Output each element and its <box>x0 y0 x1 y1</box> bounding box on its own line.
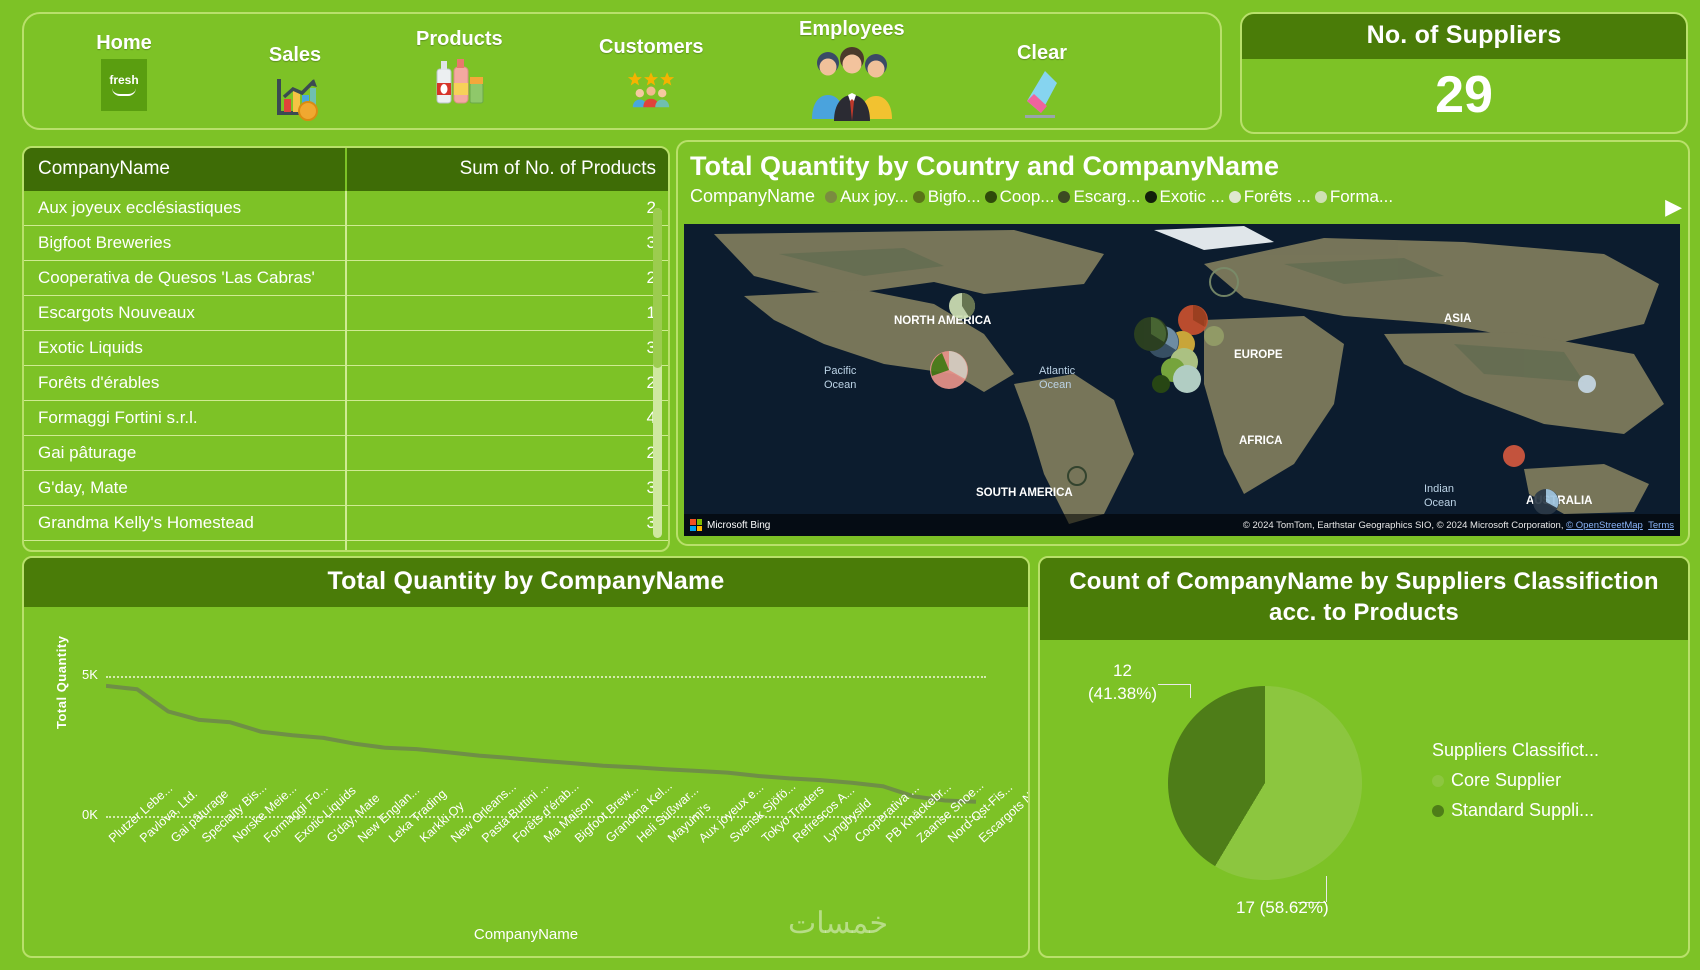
amazon-fresh-logo-icon: fresh <box>96 57 152 113</box>
pie-legend-label: Standard Suppli... <box>1451 800 1594 821</box>
map-legend-item[interactable]: Coop... <box>985 187 1055 207</box>
table-row[interactable]: Exotic Liquids3 <box>24 331 668 366</box>
pie-label-core: 17 (58.62%) <box>1236 898 1329 918</box>
table-cell-product-count: 3 <box>346 226 668 261</box>
table-cell-product-count: 2 <box>346 261 668 296</box>
pie-chart-body: 12 (41.38%) 17 (58.62%) Suppliers Classi… <box>1040 640 1688 942</box>
map-attribution: © 2024 TomTom, Earthstar Geographics SIO… <box>1243 520 1674 531</box>
table-cell-product-count: 2 <box>346 366 668 401</box>
microsoft-bing-logo[interactable]: Microsoft Bing <box>690 519 770 531</box>
legend-dot-icon <box>985 191 997 203</box>
table-row[interactable]: Forêts d'érables2 <box>24 366 668 401</box>
dashboard-page: Home fresh Sales <box>0 0 1700 970</box>
company-products-table-card: CompanyName Sum of No. of Products Aux j… <box>22 146 670 552</box>
pie-legend-label: Core Supplier <box>1451 770 1561 791</box>
terms-link[interactable]: Terms <box>1648 520 1674 531</box>
map-legend-label: Forêts ... <box>1244 187 1311 207</box>
pie-label-standard-percent: (41.38%) <box>1088 683 1157 706</box>
legend-dot-icon <box>1058 191 1070 203</box>
svg-text:Pacific: Pacific <box>824 365 857 377</box>
pie-legend-item-core[interactable]: Core Supplier <box>1432 770 1599 791</box>
nav-item-sales[interactable]: Sales <box>267 44 323 125</box>
svg-text:Ocean: Ocean <box>824 379 856 391</box>
total-quantity-line-chart-card: Total Quantity by CompanyName Total Quan… <box>22 556 1030 958</box>
svg-text:Ocean: Ocean <box>1424 497 1456 509</box>
table-body: Aux joyeux ecclésiastiques2Bigfoot Brewe… <box>24 191 668 552</box>
nav-item-label: Customers <box>599 36 703 59</box>
suppliers-kpi-card: No. of Suppliers 29 <box>1240 12 1688 134</box>
nav-item-customers[interactable]: Customers <box>599 36 703 117</box>
map-legend-title: CompanyName <box>690 186 815 207</box>
legend-next-arrow-icon[interactable]: ▶ <box>1665 194 1682 220</box>
watermark: خمسات <box>788 906 888 941</box>
map-legend-item[interactable]: Forma... <box>1315 187 1393 207</box>
pie-legend: Suppliers Classifict... Core Supplier St… <box>1432 740 1599 830</box>
table-row[interactable]: Cooperativa de Quesos 'Las Cabras'2 <box>24 261 668 296</box>
nav-item-label: Clear <box>1017 42 1067 65</box>
table-cell-companyname: Escargots Nouveaux <box>24 296 346 331</box>
nav-items: Home fresh Sales <box>24 14 1220 128</box>
nav-item-label: Sales <box>269 44 321 67</box>
pie-legend-title: Suppliers Classifict... <box>1432 740 1599 761</box>
svg-text:ASIA: ASIA <box>1444 313 1471 325</box>
nav-item-products[interactable]: Products <box>416 28 503 109</box>
pie-leader-line-2 <box>1190 684 1191 698</box>
kpi-title: No. of Suppliers <box>1242 14 1686 59</box>
map-legend-label: Aux joy... <box>840 187 909 207</box>
map-legend-label: Escarg... <box>1073 187 1140 207</box>
nav-item-employees[interactable]: Employees <box>799 18 905 121</box>
pie-chart[interactable] <box>1168 686 1362 880</box>
legend-dot-icon <box>913 191 925 203</box>
table-cell-companyname: Formaggi Fortini s.r.l. <box>24 401 346 436</box>
table-cell-product-count: 2 <box>346 191 668 226</box>
table-row[interactable]: Bigfoot Breweries3 <box>24 226 668 261</box>
legend-dot-icon <box>1229 191 1241 203</box>
bing-label: Microsoft Bing <box>707 520 770 531</box>
map-legend-item[interactable]: Exotic ... <box>1145 187 1225 207</box>
svg-text:NORTH AMERICA: NORTH AMERICA <box>894 315 991 327</box>
table-row[interactable]: Gai pâturage2 <box>24 436 668 471</box>
svg-text:Ocean: Ocean <box>1039 379 1071 391</box>
navigation-bar: Home fresh Sales <box>22 12 1222 130</box>
map-legend-item[interactable]: Forêts ... <box>1229 187 1311 207</box>
table-cell-companyname: Aux joyeux ecclésiastiques <box>24 191 346 226</box>
table-scrollbar[interactable] <box>653 208 662 538</box>
map-legend-label: Forma... <box>1330 187 1393 207</box>
bottles-icon <box>431 53 487 109</box>
map-legend-label: Bigfo... <box>928 187 981 207</box>
line-chart-title: Total Quantity by CompanyName <box>24 558 1028 607</box>
table-cell-product-count: 3 <box>346 471 668 506</box>
people-group-icon <box>804 43 900 121</box>
table-col-sum-products[interactable]: Sum of No. of Products <box>346 148 668 191</box>
table-row[interactable]: G'day, Mate3 <box>24 471 668 506</box>
y-tick-top: 5K <box>82 667 98 682</box>
table-cell-companyname: Forêts d'érables <box>24 366 346 401</box>
svg-text:Indian: Indian <box>1424 483 1454 495</box>
table-scrollbar-thumb[interactable] <box>653 208 662 368</box>
line-chart-body: Total Quantity 5K 0K Plutzer Lebe...Pavl… <box>24 607 1028 949</box>
table-row[interactable]: Escargots Nouveaux1 <box>24 296 668 331</box>
company-products-table: CompanyName Sum of No. of Products Aux j… <box>24 148 668 552</box>
nav-item-label: Products <box>416 28 503 51</box>
nav-item-label: Employees <box>799 18 905 41</box>
table-col-companyname[interactable]: CompanyName <box>24 148 346 191</box>
bar-chart-coin-icon <box>267 69 323 125</box>
table-total-row: Total86 <box>24 541 668 553</box>
pie-chart-title: Count of CompanyName by Suppliers Classi… <box>1040 558 1688 640</box>
svg-text:AFRICA: AFRICA <box>1239 435 1282 447</box>
table-row[interactable]: Grandma Kelly's Homestead3 <box>24 506 668 541</box>
table-cell-product-count: 3 <box>346 506 668 541</box>
table-cell-companyname: Exotic Liquids <box>24 331 346 366</box>
table-cell-product-count: 2 <box>346 436 668 471</box>
pie-label-standard-value: 12 <box>1088 660 1157 683</box>
eraser-icon <box>1014 67 1070 123</box>
nav-item-clear[interactable]: Clear <box>1014 42 1070 123</box>
table-cell-product-count: 3 <box>346 331 668 366</box>
map-attribution-bar: Microsoft Bing © 2024 TomTom, Earthstar … <box>684 514 1680 536</box>
svg-text:SOUTH AMERICA: SOUTH AMERICA <box>976 487 1073 499</box>
kpi-value: 29 <box>1242 59 1686 125</box>
table-row[interactable]: Aux joyeux ecclésiastiques2 <box>24 191 668 226</box>
line-chart-y-axis-label: Total Quantity <box>54 636 69 729</box>
table-total-value: 86 <box>346 541 668 553</box>
map-imagery: NORTH AMERICA EUROPE ASIA AFRICA SOUTH A… <box>684 224 1680 536</box>
map-legend: CompanyName Aux joy...Bigfo...Coop...Esc… <box>678 186 1688 213</box>
map-legend-item[interactable]: Escarg... <box>1058 187 1140 207</box>
legend-dot-icon <box>1432 805 1444 817</box>
legend-dot-icon <box>1315 191 1327 203</box>
openstreetmap-link[interactable]: © OpenStreetMap <box>1566 520 1643 531</box>
map-legend-item[interactable]: Bigfo... <box>913 187 981 207</box>
map-attribution-text: © 2024 TomTom, Earthstar Geographics SIO… <box>1243 520 1564 531</box>
microsoft-squares-icon <box>690 519 702 531</box>
nav-item-label: Home <box>96 32 152 55</box>
table-cell-companyname: Bigfoot Breweries <box>24 226 346 261</box>
nav-item-home[interactable]: Home fresh <box>96 32 152 113</box>
table-row[interactable]: Formaggi Fortini s.r.l.4 <box>24 401 668 436</box>
world-map[interactable]: NORTH AMERICA EUROPE ASIA AFRICA SOUTH A… <box>684 224 1680 536</box>
table-header-row: CompanyName Sum of No. of Products <box>24 148 668 191</box>
legend-dot-icon <box>1432 775 1444 787</box>
map-legend-label: Exotic ... <box>1160 187 1225 207</box>
table-total-label: Total <box>24 541 346 553</box>
legend-dot-icon <box>1145 191 1157 203</box>
map-legend-label: Coop... <box>1000 187 1055 207</box>
table-cell-companyname: G'day, Mate <box>24 471 346 506</box>
pie-leader-line-1 <box>1158 684 1190 685</box>
svg-text:EUROPE: EUROPE <box>1234 349 1283 361</box>
legend-dot-icon <box>825 191 837 203</box>
y-tick-bottom: 0K <box>82 807 98 822</box>
pie-label-standard: 12 (41.38%) <box>1088 660 1157 706</box>
map-title: Total Quantity by Country and CompanyNam… <box>678 142 1688 186</box>
table-cell-companyname: Gai pâturage <box>24 436 346 471</box>
pie-legend-item-standard[interactable]: Standard Suppli... <box>1432 800 1599 821</box>
table-cell-companyname: Cooperativa de Quesos 'Las Cabras' <box>24 261 346 296</box>
suppliers-classification-pie-card: Count of CompanyName by Suppliers Classi… <box>1038 556 1690 958</box>
stars-people-icon <box>623 61 679 117</box>
table-cell-product-count: 4 <box>346 401 668 436</box>
map-card: Total Quantity by Country and CompanyNam… <box>676 140 1690 546</box>
table-cell-companyname: Grandma Kelly's Homestead <box>24 506 346 541</box>
svg-text:Atlantic: Atlantic <box>1039 365 1076 377</box>
table-cell-product-count: 1 <box>346 296 668 331</box>
map-legend-item[interactable]: Aux joy... <box>825 187 909 207</box>
